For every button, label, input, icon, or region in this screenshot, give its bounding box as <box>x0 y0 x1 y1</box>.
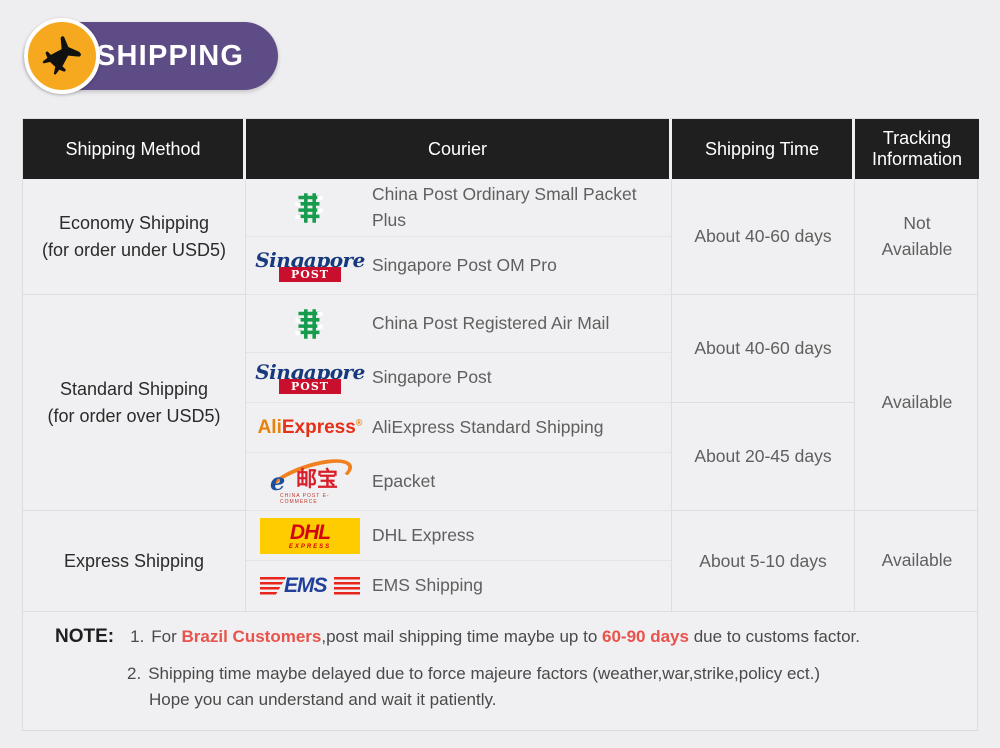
time-cell-economy: About 40-60 days <box>672 179 855 295</box>
shipping-info-page: SHIPPING Shipping Method Courier Shippin… <box>0 0 1000 748</box>
note-label: NOTE: <box>55 626 114 648</box>
shipping-badge: SHIPPING <box>24 22 278 90</box>
note-highlight-brazil: Brazil Customers <box>182 627 322 646</box>
courier-name-ems: EMS Shipping <box>362 573 483 598</box>
note-item-1-post: due to customs factor. <box>689 627 860 646</box>
dhl-logo: DHL EXPRESS <box>258 514 362 558</box>
tracking-economy-line1: Not <box>903 213 930 233</box>
shipping-table: Shipping Method Courier Shipping Time Tr… <box>22 118 978 731</box>
courier-row-singapore-post-om-pro: Singapore POST Singapore Post OM Pro <box>246 237 672 295</box>
method-standard-line1: Standard Shipping <box>60 379 208 399</box>
courier-row-ems: EMS EMS Shipping <box>246 561 672 611</box>
aliexpress-ali-text: Ali <box>258 417 282 438</box>
header-courier: Courier <box>246 119 672 179</box>
note-item-1-pre: For <box>151 627 181 646</box>
courier-row-epacket: e 邮宝 CHINA POST E-COMMERCE Epacket <box>246 453 672 511</box>
courier-name-china-post-small-packet: China Post Ordinary Small Packet Plus <box>362 182 671 233</box>
method-cell-economy: Economy Shipping (for order under USD5) <box>23 179 246 295</box>
courier-row-aliexpress: AliExpress® AliExpress Standard Shipping <box>246 403 672 453</box>
note-highlight-days: 60-90 days <box>602 627 689 646</box>
courier-name-china-post-registered: China Post Registered Air Mail <box>362 311 609 336</box>
method-cell-express: Express Shipping <box>23 511 246 611</box>
epacket-tiny-text: CHINA POST E-COMMERCE <box>280 493 358 505</box>
note-section: NOTE: 1. For Brazil Customers,post mail … <box>23 611 977 730</box>
table-header-row: Shipping Method Courier Shipping Time Tr… <box>23 119 977 179</box>
ems-logo: EMS <box>258 564 362 608</box>
epacket-e-text: e <box>270 470 285 494</box>
courier-name-dhl: DHL Express <box>362 523 474 548</box>
method-column: Economy Shipping (for order under USD5) … <box>23 179 246 611</box>
courier-column: China Post Ordinary Small Packet Plus Si… <box>246 179 672 611</box>
tracking-cell-express: Available <box>855 511 979 611</box>
dhl-main-text: DHL <box>290 522 330 543</box>
tracking-economy-line2: Available <box>882 239 953 259</box>
method-cell-standard: Standard Shipping (for order over USD5) <box>23 295 246 511</box>
method-economy-line1: Economy Shipping <box>59 213 209 233</box>
ems-stripes-right <box>334 577 360 595</box>
aliexpress-logo: AliExpress® <box>258 406 362 450</box>
table-body: Economy Shipping (for order under USD5) … <box>23 179 977 611</box>
epacket-logo: e 邮宝 CHINA POST E-COMMERCE <box>258 460 362 504</box>
courier-row-china-post-small-packet: China Post Ordinary Small Packet Plus <box>246 179 672 237</box>
china-post-logo <box>258 302 362 346</box>
note-item-2-text: Shipping time maybe delayed due to force… <box>148 664 820 684</box>
airplane-icon <box>39 33 85 79</box>
courier-row-singapore-post: Singapore POST Singapore Post <box>246 353 672 403</box>
note-item-1-number: 1. <box>130 627 144 647</box>
aliexpress-express-text: Express <box>282 417 356 438</box>
courier-name-epacket: Epacket <box>362 469 435 494</box>
ems-main-text: EMS <box>284 575 327 596</box>
header-tracking-information: Tracking Information <box>855 119 979 179</box>
note-item-2-number: 2. <box>127 664 141 684</box>
shipping-badge-label: SHIPPING <box>96 40 244 73</box>
method-express-line1: Express Shipping <box>64 548 204 574</box>
ems-stripes-left <box>260 577 286 595</box>
courier-row-dhl: DHL EXPRESS DHL Express <box>246 511 672 561</box>
shipping-time-column: About 40-60 days About 40-60 days About … <box>672 179 855 611</box>
singapore-post-logo: Singapore POST <box>258 356 362 400</box>
china-post-logo <box>258 186 362 230</box>
time-cell-standard-1: About 40-60 days <box>672 295 855 403</box>
singapore-post-box: POST <box>279 267 341 282</box>
note-item-2: 2. Shipping time maybe delayed due to fo… <box>23 664 977 684</box>
note-item-1-mid: ,post mail shipping time maybe up to <box>321 627 602 646</box>
method-economy-line2: (for order under USD5) <box>42 240 226 260</box>
tracking-cell-standard: Available <box>855 295 979 511</box>
header-shipping-time: Shipping Time <box>672 119 855 179</box>
airplane-icon-circle <box>24 18 100 94</box>
note-item-2-subtext: Hope you can understand and wait it pati… <box>23 690 977 710</box>
method-standard-line2: (for order over USD5) <box>47 406 220 426</box>
tracking-cell-economy: Not Available <box>855 179 979 295</box>
header-shipping-method: Shipping Method <box>23 119 246 179</box>
time-cell-standard-2: About 20-45 days <box>672 403 855 511</box>
courier-name-singapore-post: Singapore Post <box>362 365 492 390</box>
courier-name-singapore-post-om-pro: Singapore Post OM Pro <box>362 253 557 278</box>
epacket-chinese-text: 邮宝 <box>296 469 338 490</box>
note-item-1: NOTE: 1. For Brazil Customers,post mail … <box>23 626 977 648</box>
dhl-sub-text: EXPRESS <box>289 544 331 550</box>
tracking-column: Not Available Available Available <box>855 179 979 611</box>
courier-row-china-post-registered: China Post Registered Air Mail <box>246 295 672 353</box>
time-cell-express: About 5-10 days <box>672 511 855 611</box>
courier-name-aliexpress: AliExpress Standard Shipping <box>362 415 604 440</box>
singapore-post-logo: Singapore POST <box>258 244 362 288</box>
singapore-post-box: POST <box>279 379 341 394</box>
